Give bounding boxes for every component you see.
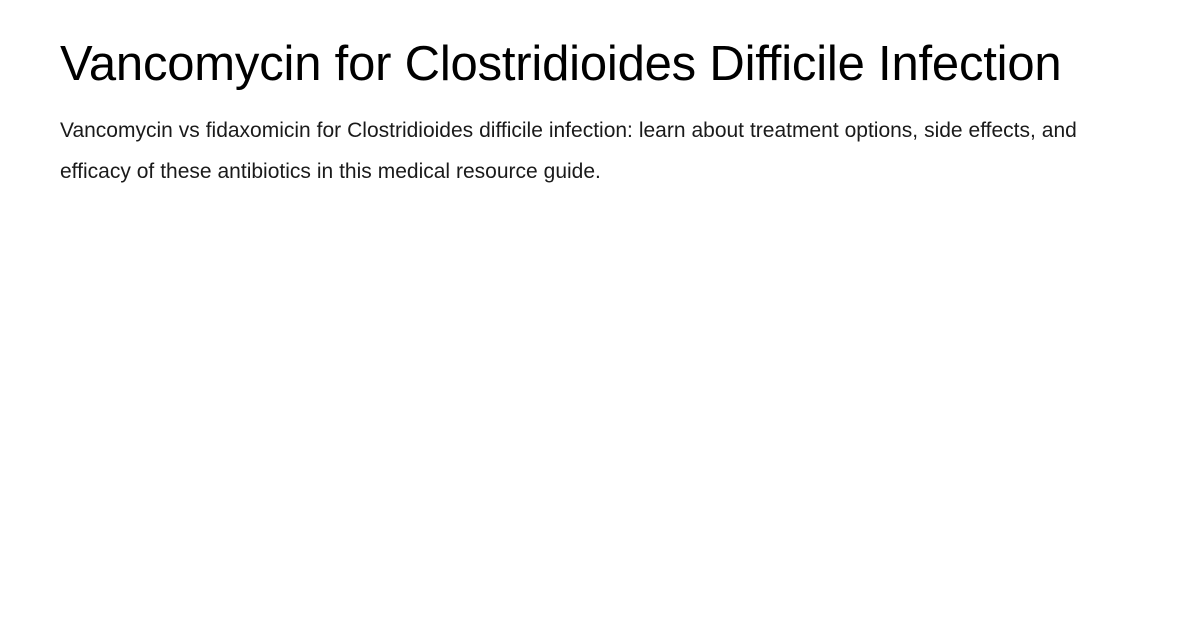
card-content: Vancomycin for Clostridioides Difficile … xyxy=(60,34,1140,192)
page-description: Vancomycin vs fidaxomicin for Clostridio… xyxy=(60,110,1122,192)
preview-card: Vancomycin for Clostridioides Difficile … xyxy=(0,0,1200,630)
title-container: Vancomycin for Clostridioides Difficile … xyxy=(60,34,1140,94)
page-title: Vancomycin for Clostridioides Difficile … xyxy=(60,34,1140,94)
